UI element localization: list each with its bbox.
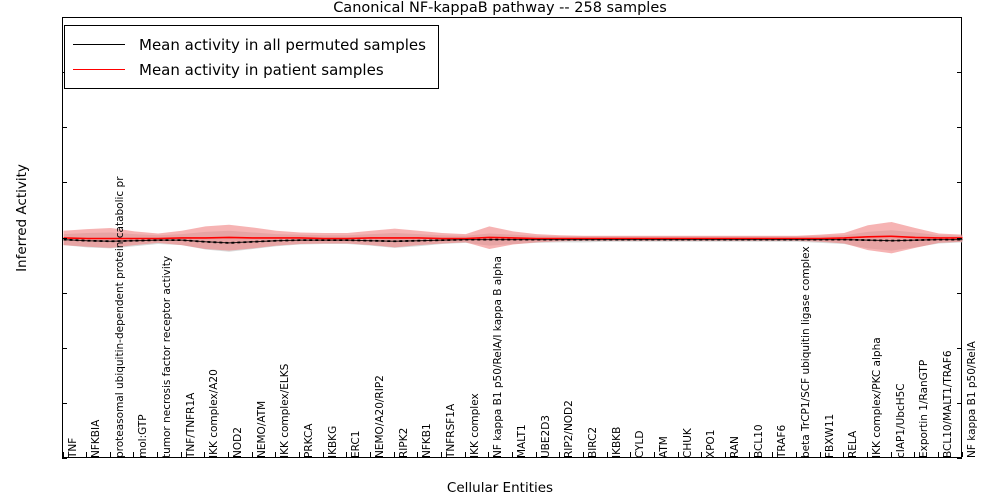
legend-label-patient: Mean activity in patient samples (139, 61, 384, 79)
legend-item-permuted: Mean activity in all permuted samples (73, 32, 426, 57)
legend-label-permuted: Mean activity in all permuted samples (139, 36, 426, 54)
legend-swatch-patient (73, 69, 125, 70)
legend-swatch-permuted (73, 44, 125, 45)
legend-item-patient: Mean activity in patient samples (73, 57, 426, 82)
chart-title: Canonical NF-kappaB pathway -- 258 sampl… (0, 0, 1000, 17)
chart-legend: Mean activity in all permuted samples Me… (64, 25, 439, 89)
x-tick-label: NF kappa B1 p50/RelA (966, 341, 978, 458)
x-axis-label: Cellular Entities (0, 480, 1000, 496)
y-axis-label: Inferred Activity (14, 108, 30, 328)
chart-figure: Canonical NF-kappaB pathway -- 258 sampl… (0, 0, 1000, 500)
